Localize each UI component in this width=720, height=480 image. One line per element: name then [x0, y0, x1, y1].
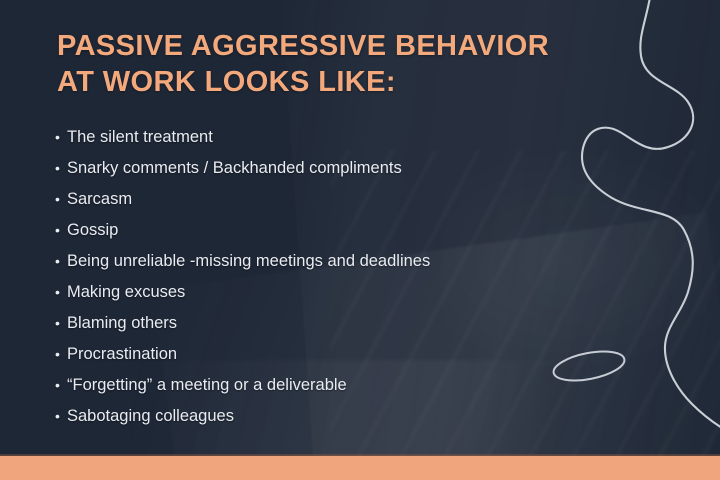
list-item: Making excuses [55, 277, 655, 308]
list-item: Snarky comments / Backhanded compliments [55, 153, 655, 184]
list-item: Procrastination [55, 339, 655, 370]
behavior-list: The silent treatment Snarky comments / B… [55, 122, 655, 432]
list-item: “Forgetting” a meeting or a deliverable [55, 370, 655, 401]
page-title: PASSIVE AGGRESSIVE BEHAVIOR AT WORK LOOK… [57, 28, 657, 100]
list-item: Sarcasm [55, 184, 655, 215]
page-title-line-2: AT WORK LOOKS LIKE: [57, 64, 657, 100]
page-title-line-1: PASSIVE AGGRESSIVE BEHAVIOR [57, 28, 657, 64]
list-item: Blaming others [55, 308, 655, 339]
list-item: Being unreliable -missing meetings and d… [55, 246, 655, 277]
orange-accent-bar [0, 456, 720, 480]
poster-canvas: PASSIVE AGGRESSIVE BEHAVIOR AT WORK LOOK… [0, 0, 720, 480]
list-item: Sabotaging colleagues [55, 401, 655, 432]
list-item: Gossip [55, 215, 655, 246]
list-item: The silent treatment [55, 122, 655, 153]
